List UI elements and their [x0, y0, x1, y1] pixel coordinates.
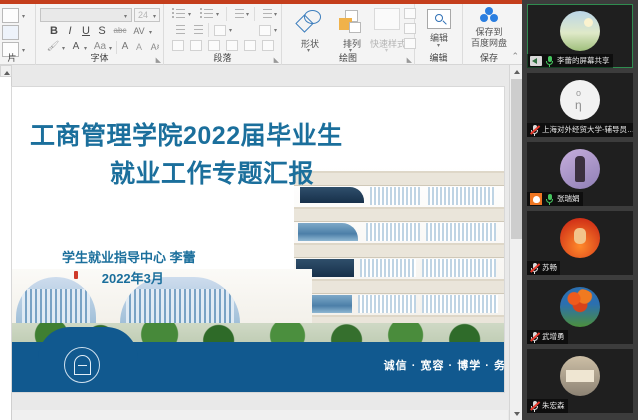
text-direction-chevron-icon[interactable]: ▾: [274, 11, 277, 18]
slide-thumbnail-pane[interactable]: [0, 65, 12, 420]
new-slide-icon[interactable]: [2, 8, 19, 23]
shapes-icon[interactable]: [296, 10, 326, 36]
slide-subtitle-line-2: 2022年3月: [62, 268, 196, 289]
font-name-chevron-icon[interactable]: ▾: [124, 13, 127, 20]
red-cursor-marker: [74, 271, 78, 279]
powerpoint-window: ▾ ▾ 片 ▾ 24 ▾ B I U S abc AV ▾ 🖌 ▾: [0, 0, 522, 420]
ribbon-group-save-label: 保存: [463, 51, 515, 64]
find-button[interactable]: [427, 9, 451, 29]
triangle-up-icon: [514, 70, 520, 74]
microphone-muted-icon[interactable]: [530, 331, 539, 343]
microphone-icon[interactable]: [545, 193, 554, 205]
participant-tile[interactable]: 朱宏森: [527, 349, 633, 413]
bullet-chevron-icon[interactable]: ▾: [188, 11, 191, 18]
participant-status-bar: 武增勇: [527, 330, 568, 344]
slide-title-line-2: 就业工作专题汇报: [12, 155, 402, 193]
ribbon-group-slides: ▾ ▾ 片: [0, 4, 36, 65]
ribbon-group-drawing-label: 绘图: [282, 51, 414, 64]
participant-status-bar: 李蕾的屏幕共享: [527, 54, 613, 68]
distribute-icon[interactable]: [244, 40, 256, 51]
new-slide-chevron-icon[interactable]: ▾: [22, 13, 25, 20]
bold-button[interactable]: B: [48, 24, 60, 38]
arrange-icon[interactable]: [338, 10, 366, 36]
microphone-muted-icon[interactable]: [530, 262, 539, 274]
ribbon-group-editing-label: 编辑: [415, 51, 462, 64]
participant-tile[interactable]: 苏畅: [527, 211, 633, 275]
font-size-chevron-icon[interactable]: ▾: [153, 13, 156, 20]
align-right-icon[interactable]: [208, 40, 220, 51]
collapse-ribbon-icon[interactable]: ⌃: [511, 51, 519, 62]
paragraph-dialog-launcher[interactable]: ◣: [274, 56, 279, 64]
microphone-muted-icon[interactable]: [530, 124, 539, 136]
line-spacing-icon[interactable]: [231, 8, 245, 19]
participant-name: 朱宏森: [542, 399, 565, 413]
save-to-baidu-label-2[interactable]: 百度网盘: [465, 36, 513, 49]
layout-icon[interactable]: [2, 25, 19, 40]
avatar: [560, 356, 600, 396]
numbered-chevron-icon[interactable]: ▾: [216, 11, 219, 18]
ribbon: ▾ ▾ 片 ▾ 24 ▾ B I U S abc AV ▾ 🖌 ▾: [0, 4, 522, 65]
participant-tile[interactable]: 李蕾的屏幕共享: [527, 4, 633, 68]
participant-name: 李蕾的屏幕共享: [557, 54, 610, 68]
participant-tile[interactable]: 武增勇: [527, 280, 633, 344]
avatar: [560, 218, 600, 258]
increase-indent-icon[interactable]: [190, 24, 204, 35]
meeting-participants-panel: 李蕾的屏幕共享 上海对外经贸大学-辅导员… 张瑞娟: [522, 0, 638, 420]
microphone-icon[interactable]: [545, 55, 554, 67]
ribbon-group-slides-label: 片: [0, 51, 32, 64]
numbered-list-icon[interactable]: [200, 8, 214, 19]
participant-name: 苏畅: [542, 261, 557, 275]
participant-tile[interactable]: 张瑞娟: [527, 142, 633, 206]
ribbon-group-save: 保存到 百度网盘 保存: [463, 4, 515, 65]
align-left-icon[interactable]: [172, 40, 184, 51]
avatar: [560, 11, 600, 51]
align-text-icon[interactable]: [259, 25, 271, 36]
quick-styles-icon[interactable]: [374, 8, 400, 30]
text-shadow-button[interactable]: S: [96, 24, 108, 38]
columns-chevron-icon[interactable]: ▾: [229, 27, 232, 34]
convert-smartart-icon[interactable]: [262, 40, 274, 51]
screen-root: ▾ ▾ 片 ▾ 24 ▾ B I U S abc AV ▾ 🖌 ▾: [0, 0, 638, 420]
slide-horizontal-scrollbar[interactable]: [12, 410, 508, 420]
ribbon-group-font: ▾ 24 ▾ B I U S abc AV ▾ 🖌 ▾ A ▾ Aa ▾ A A…: [36, 4, 164, 65]
triangle-down-icon: [514, 412, 520, 416]
italic-button[interactable]: I: [64, 24, 76, 38]
font-name-input[interactable]: [40, 8, 132, 22]
ribbon-group-paragraph-label: 段落: [164, 51, 281, 64]
participant-name: 上海对外经贸大学-辅导员…: [542, 123, 633, 137]
columns-icon[interactable]: [214, 25, 226, 36]
participant-name: 张瑞娟: [557, 192, 580, 206]
thumbnail-scroll-up-button[interactable]: [0, 65, 12, 77]
ribbon-group-editing: 编辑 ▾ 编辑: [415, 4, 463, 65]
drawing-dialog-launcher[interactable]: ◣: [407, 56, 412, 64]
baidu-netdisk-icon[interactable]: [480, 7, 498, 23]
participant-status-bar: 上海对外经贸大学-辅导员…: [527, 123, 633, 137]
scroll-down-button[interactable]: [510, 407, 522, 420]
editing-chevron-icon[interactable]: ▾: [437, 42, 440, 49]
paragraph-divider-1: [226, 7, 227, 21]
avatar: [560, 287, 600, 327]
participant-status-bar: 朱宏森: [527, 399, 568, 413]
justify-icon[interactable]: [226, 40, 238, 51]
ribbon-group-drawing: 形状 ▾ 排列 ▾ 快速样式 ▾ 绘图 ◣: [282, 4, 415, 65]
scrollbar-thumb[interactable]: [511, 79, 522, 239]
underline-button[interactable]: U: [80, 24, 92, 38]
align-center-icon[interactable]: [190, 40, 202, 51]
avatar: [560, 80, 600, 120]
decrease-indent-icon[interactable]: [172, 24, 186, 35]
slide-canvas[interactable]: 诚信 · 宽容 · 博学 · 务 工商管理学院2022届毕业生 就业工作专题汇报…: [12, 87, 504, 392]
bullet-list-icon[interactable]: [172, 8, 186, 19]
scroll-up-button[interactable]: [510, 65, 522, 78]
slide-vertical-scrollbar[interactable]: [509, 65, 522, 420]
university-seal-icon: [64, 347, 100, 383]
slide-subtitle[interactable]: 学生就业指导中心 李蕾 2022年3月: [62, 247, 196, 289]
triangle-up-icon: [4, 71, 10, 75]
slide-subtitle-line-1: 学生就业指导中心 李蕾: [62, 247, 196, 268]
character-spacing-chevron-icon[interactable]: ▾: [149, 29, 152, 36]
slide-title[interactable]: 工商管理学院2022届毕业生 就业工作专题汇报: [12, 117, 402, 193]
font-size-input[interactable]: 24: [134, 8, 160, 22]
host-badge-icon: [530, 193, 542, 205]
microphone-muted-icon[interactable]: [530, 400, 539, 412]
align-text-chevron-icon[interactable]: ▾: [274, 27, 277, 34]
ribbon-group-paragraph: ▾ ▾ ▾ ▾ ▾ ▾: [164, 4, 282, 65]
avatar: [560, 149, 600, 189]
slide-footer-banner: 诚信 · 宽容 · 博学 · 务: [12, 342, 504, 392]
paragraph-divider-2: [254, 7, 255, 21]
participant-status-bar: 苏畅: [527, 261, 560, 275]
character-spacing-button[interactable]: AV: [131, 24, 147, 38]
paragraph-divider-3: [208, 23, 209, 37]
university-motto: 诚信 · 宽容 · 博学 · 务: [384, 357, 504, 373]
line-spacing-chevron-icon[interactable]: ▾: [246, 11, 249, 18]
participant-tile[interactable]: 上海对外经贸大学-辅导员…: [527, 73, 633, 137]
font-dialog-launcher[interactable]: ◣: [156, 56, 161, 64]
screen-share-icon: [530, 56, 542, 66]
slide-title-line-1: 工商管理学院2022届毕业生: [12, 117, 402, 155]
search-icon: [435, 14, 443, 22]
participant-status-bar: 张瑞娟: [527, 192, 583, 206]
editing-workarea: 诚信 · 宽容 · 博学 · 务 工商管理学院2022届毕业生 就业工作专题汇报…: [0, 65, 522, 420]
text-direction-icon[interactable]: [259, 8, 273, 19]
participant-name: 武增勇: [542, 330, 565, 344]
ribbon-group-font-label: 字体: [36, 51, 163, 64]
strikethrough-button[interactable]: abc: [111, 24, 129, 38]
